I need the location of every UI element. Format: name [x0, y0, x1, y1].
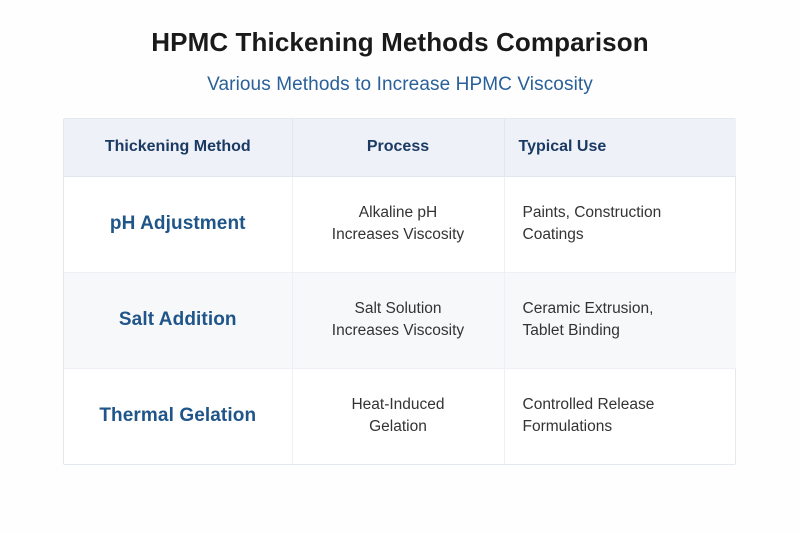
cell-process: Salt Solution Increases Viscosity [292, 272, 504, 368]
comparison-table: Thickening Method Process Typical Use pH… [64, 119, 736, 464]
use-line-2: Coatings [523, 224, 719, 246]
cell-typical-use: Paints, Construction Coatings [504, 176, 736, 272]
table-body: pH Adjustment Alkaline pH Increases Visc… [64, 176, 736, 464]
process-line-2: Gelation [311, 416, 486, 438]
column-header-typical-use: Typical Use [504, 119, 736, 176]
table-header: Thickening Method Process Typical Use [64, 119, 736, 176]
cell-process: Alkaline pH Increases Viscosity [292, 176, 504, 272]
use-line-1: Ceramic Extrusion, [523, 298, 719, 320]
page-subtitle: Various Methods to Increase HPMC Viscosi… [0, 74, 800, 96]
table-row: Salt Addition Salt Solution Increases Vi… [64, 272, 736, 368]
cell-method: pH Adjustment [64, 176, 292, 272]
use-line-2: Tablet Binding [523, 320, 719, 342]
method-label: Thermal Gelation [99, 405, 256, 426]
cell-typical-use: Controlled Release Formulations [504, 368, 736, 464]
process-line-1: Heat-Induced [311, 394, 486, 416]
table-header-row: Thickening Method Process Typical Use [64, 119, 736, 176]
process-line-2: Increases Viscosity [311, 320, 486, 342]
table-row: pH Adjustment Alkaline pH Increases Visc… [64, 176, 736, 272]
cell-process: Heat-Induced Gelation [292, 368, 504, 464]
cell-method: Salt Addition [64, 272, 292, 368]
use-line-2: Formulations [523, 416, 719, 438]
method-label: Salt Addition [119, 309, 237, 330]
process-line-2: Increases Viscosity [311, 224, 486, 246]
use-line-1: Paints, Construction [523, 202, 719, 224]
column-header-thickening-method: Thickening Method [64, 119, 292, 176]
cell-method: Thermal Gelation [64, 368, 292, 464]
method-label: pH Adjustment [110, 213, 246, 234]
comparison-table-container: Thickening Method Process Typical Use pH… [63, 118, 736, 465]
column-header-process: Process [292, 119, 504, 176]
slide-canvas: HPMC Thickening Methods Comparison Vario… [0, 0, 800, 533]
page-title: HPMC Thickening Methods Comparison [0, 27, 800, 58]
table-row: Thermal Gelation Heat-Induced Gelation C… [64, 368, 736, 464]
cell-typical-use: Ceramic Extrusion, Tablet Binding [504, 272, 736, 368]
process-line-1: Alkaline pH [311, 202, 486, 224]
process-line-1: Salt Solution [311, 298, 486, 320]
use-line-1: Controlled Release [523, 394, 719, 416]
